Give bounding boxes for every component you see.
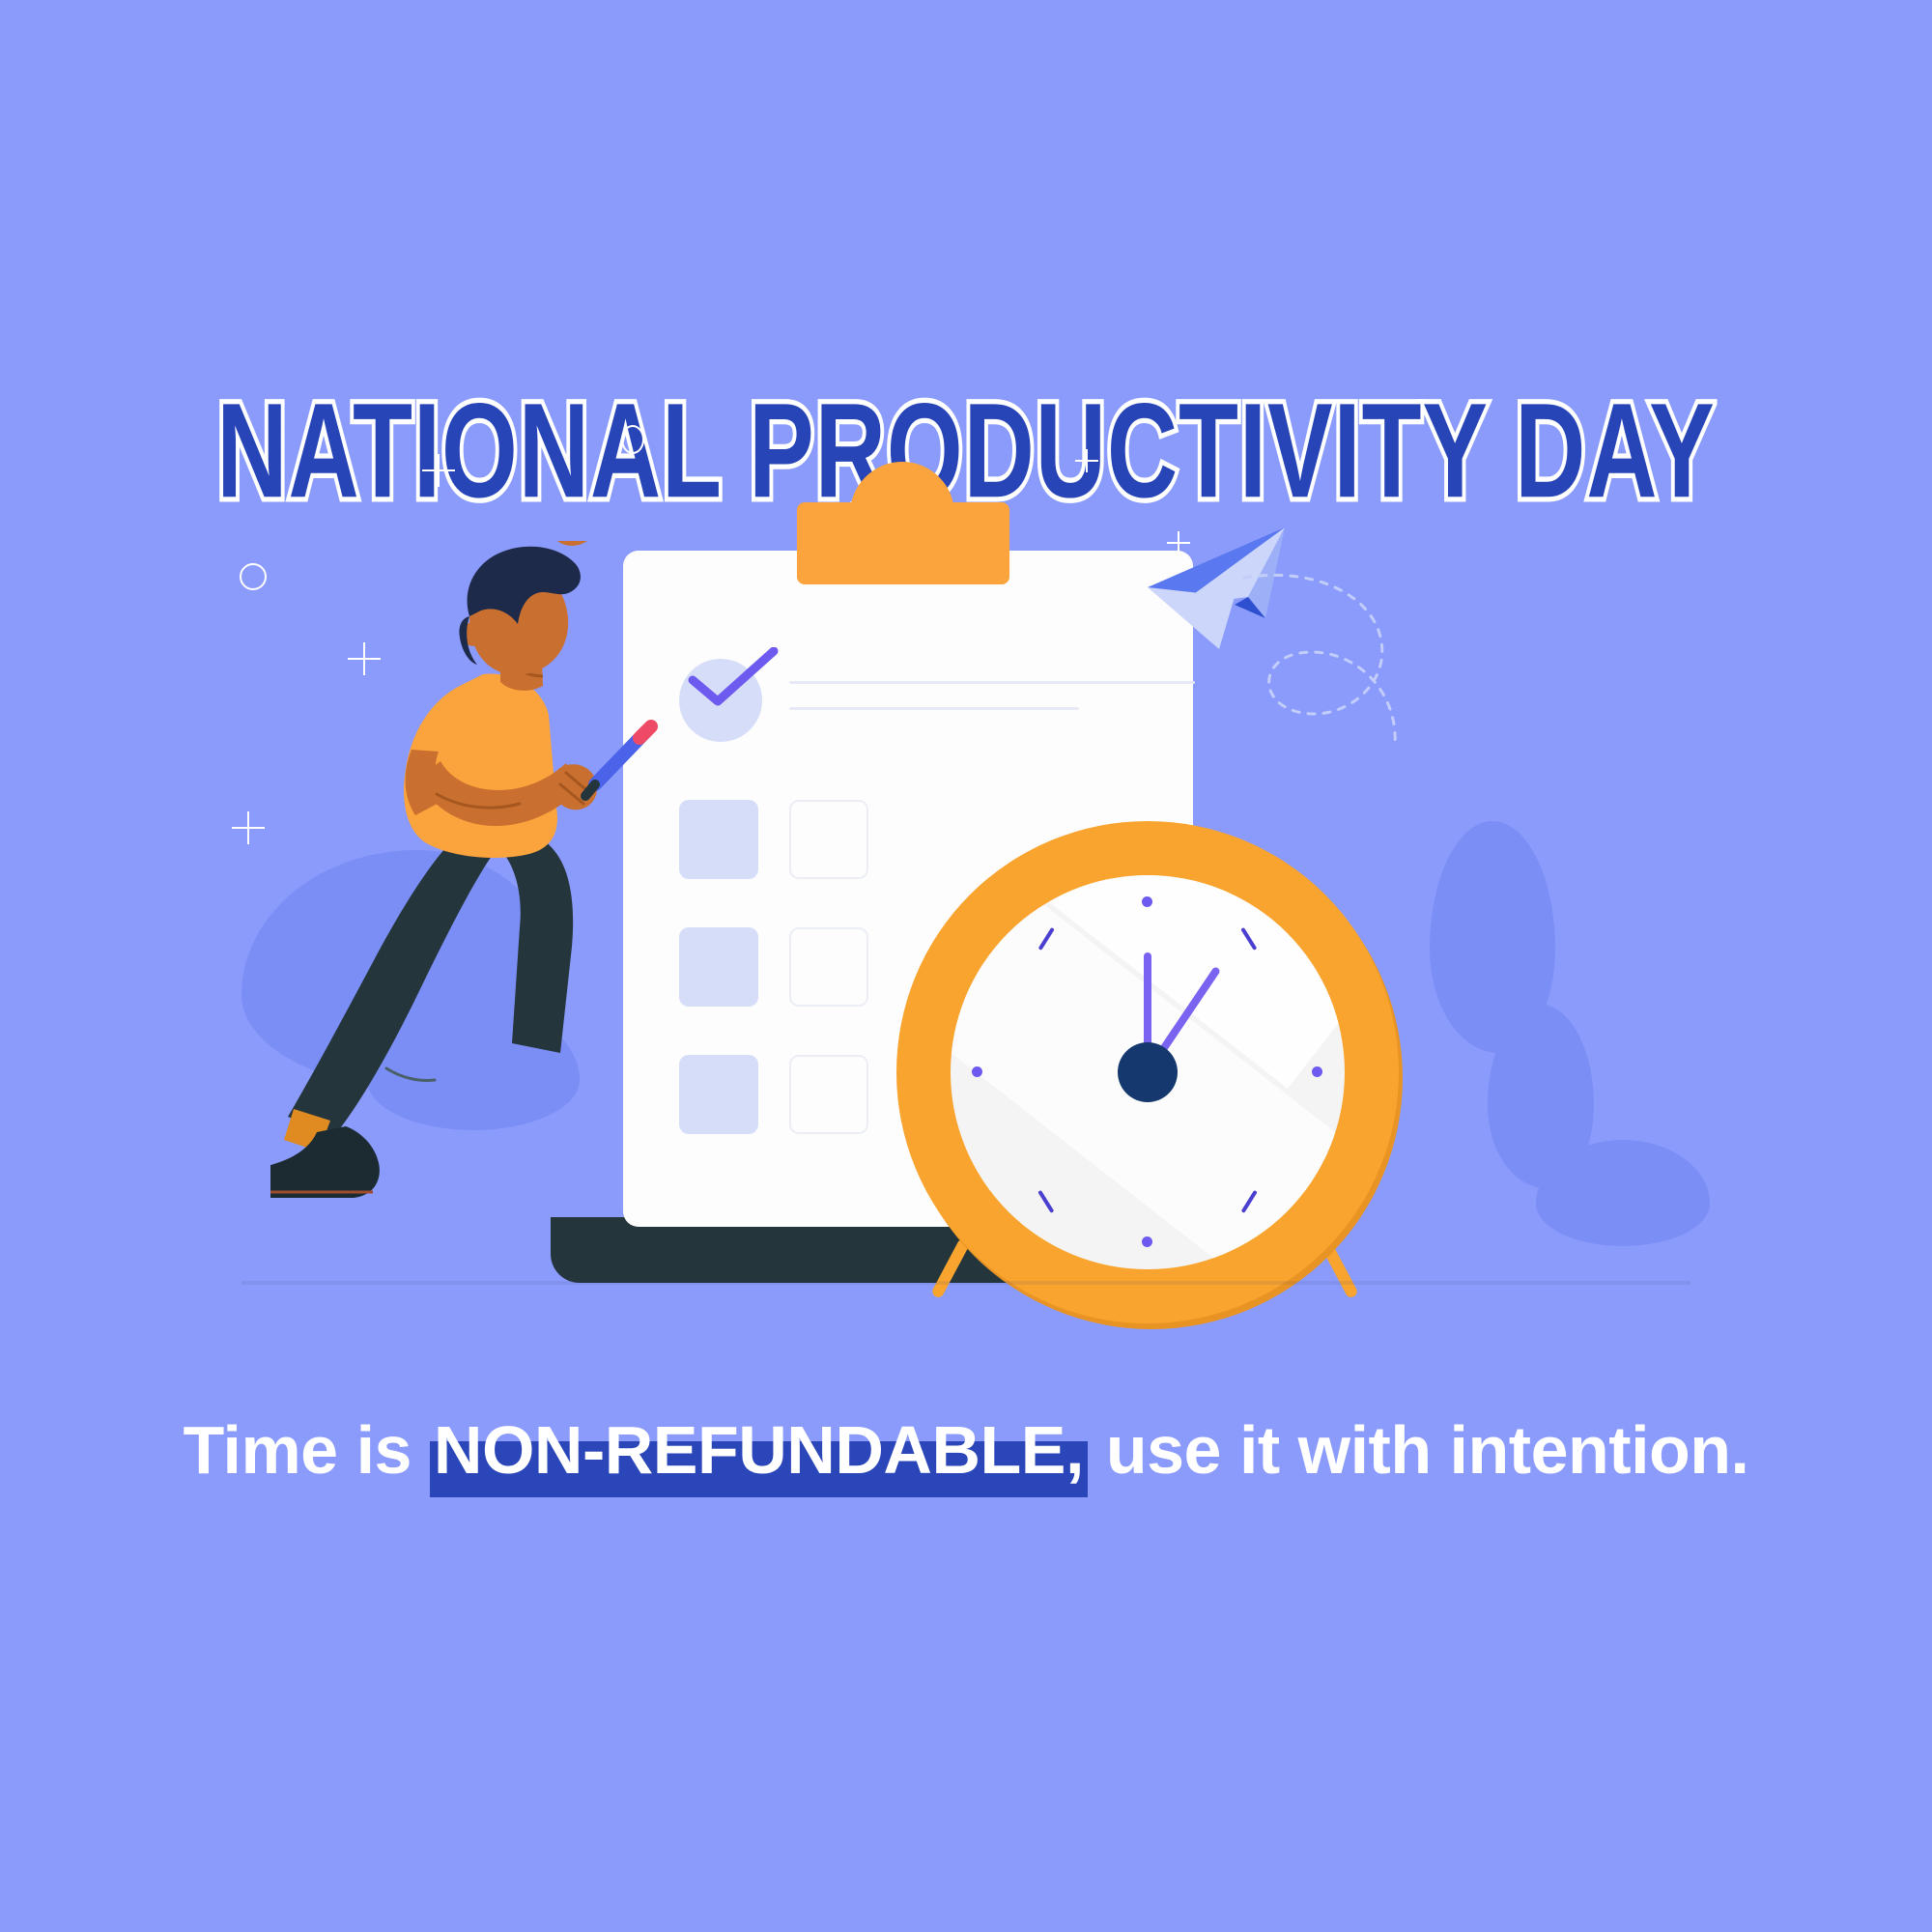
clock-marker-3 [1312, 1066, 1322, 1077]
clock-marker-12 [1142, 896, 1152, 907]
clock-center-cap [1118, 1042, 1178, 1102]
page-title-container: NATIONAL PRODUCTIVITY DAY [0, 394, 1932, 508]
checkbox-empty[interactable] [789, 800, 868, 879]
checkbox-empty[interactable] [789, 1055, 868, 1134]
checkbox-filled[interactable] [679, 927, 758, 1007]
tagline-highlight: NON-REFUNDABLE, [430, 1412, 1088, 1488]
clock-marker-9 [972, 1066, 982, 1077]
tagline-lead: Time is [184, 1412, 430, 1488]
clock-leg-left [930, 1237, 971, 1299]
checkbox-empty[interactable] [789, 927, 868, 1007]
illustration-stage [0, 502, 1932, 1372]
tagline: Time is NON-REFUNDABLE, use it with inte… [184, 1412, 1749, 1488]
checkbox-filled[interactable] [679, 1055, 758, 1134]
ground-line [241, 1281, 1690, 1285]
paper-rule [789, 707, 1079, 710]
clock-tick-5 [1038, 1190, 1055, 1213]
check-icon [687, 647, 780, 697]
paper-rule [789, 681, 1195, 684]
clock-face [951, 875, 1345, 1269]
sparkle-icon [232, 811, 265, 844]
tagline-trail: use it with intention. [1088, 1412, 1749, 1488]
clock-marker-6 [1142, 1236, 1152, 1247]
sparkle-icon [422, 454, 455, 487]
tagline-container: Time is NON-REFUNDABLE, use it with inte… [0, 1412, 1932, 1488]
clipboard-clip-bar [797, 502, 1009, 584]
page-title: NATIONAL PRODUCTIVITY DAY [216, 384, 1715, 518]
ring-icon [621, 425, 644, 454]
checkbox-filled[interactable] [679, 800, 758, 879]
sparkle-icon [1075, 449, 1098, 472]
poster-canvas: NATIONAL PRODUCTIVITY DAY [0, 0, 1932, 1932]
ring-icon [240, 563, 267, 590]
clock-icon [896, 821, 1399, 1323]
person-writing-icon [270, 541, 676, 1294]
paper-plane-trail [1236, 570, 1459, 773]
